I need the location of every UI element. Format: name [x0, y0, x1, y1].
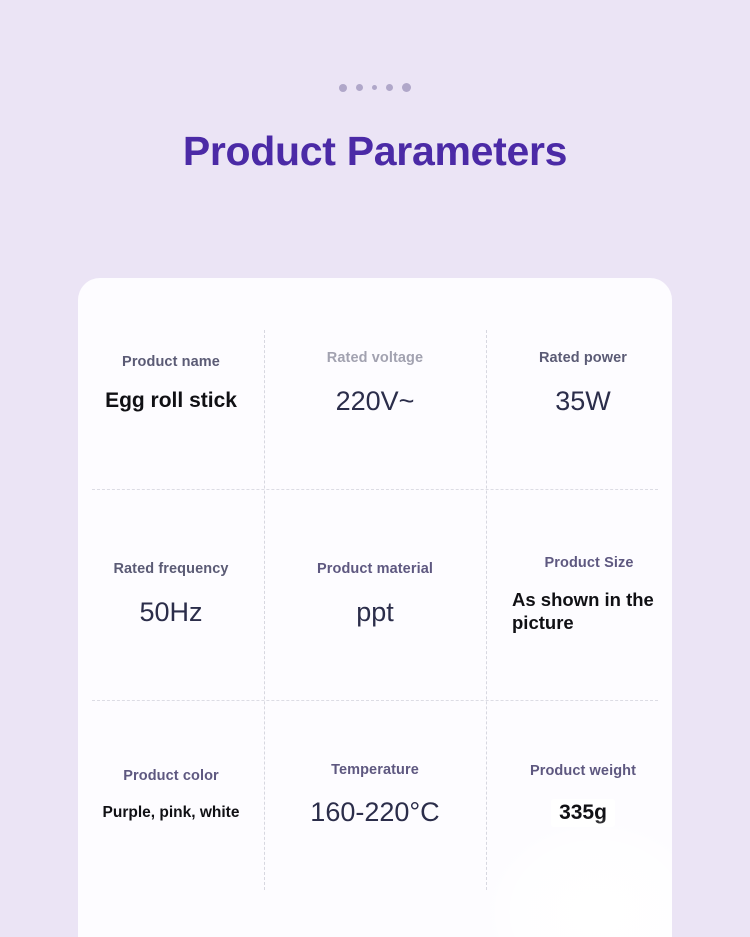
param-label: Rated power	[539, 350, 627, 367]
param-label: Rated frequency	[113, 561, 228, 578]
param-value: ppt	[356, 597, 394, 628]
param-value: 35W	[555, 386, 611, 417]
param-cell-product-color: Product color Purple, pink, white	[78, 700, 264, 890]
grid-divider-vertical	[486, 330, 487, 890]
param-cell-rated-power: Rated power 35W	[486, 278, 672, 489]
param-label: Product weight	[530, 763, 636, 780]
param-value: 160-220°C	[310, 797, 439, 828]
param-cell-rated-voltage: Rated voltage 220V~	[264, 278, 486, 489]
param-value: 335g	[551, 799, 615, 827]
grid-divider-horizontal	[92, 700, 658, 701]
page-title: Product Parameters	[0, 128, 750, 175]
dot-icon	[356, 84, 363, 91]
param-value: Egg roll stick	[105, 389, 237, 413]
param-cell-temperature: Temperature 160-220°C	[264, 700, 486, 890]
param-cell-product-material: Product material ppt	[264, 489, 486, 700]
param-cell-product-size: Product Size As shown in the picture	[486, 489, 672, 700]
parameters-card: Product name Egg roll stick Rated voltag…	[78, 278, 672, 937]
parameters-grid: Product name Egg roll stick Rated voltag…	[78, 278, 672, 890]
param-value: 50Hz	[139, 597, 202, 628]
decorative-dots	[0, 83, 750, 92]
param-cell-product-name: Product name Egg roll stick	[78, 278, 264, 489]
param-value: As shown in the picture	[512, 588, 662, 634]
dot-icon	[402, 83, 411, 92]
grid-divider-vertical	[264, 330, 265, 890]
param-label: Product name	[122, 354, 220, 371]
grid-divider-horizontal	[92, 489, 658, 490]
param-value: Purple, pink, white	[103, 804, 240, 822]
param-cell-rated-frequency: Rated frequency 50Hz	[78, 489, 264, 700]
dot-icon	[372, 85, 377, 90]
param-label: Rated voltage	[327, 350, 423, 367]
param-label: Temperature	[331, 762, 419, 779]
param-label: Product Size	[544, 555, 633, 572]
dot-icon	[386, 84, 393, 91]
dot-icon	[339, 84, 347, 92]
param-value: 220V~	[336, 386, 415, 417]
param-label: Product color	[123, 768, 219, 785]
param-cell-product-weight: Product weight 335g	[486, 700, 672, 890]
param-label: Product material	[317, 561, 433, 578]
